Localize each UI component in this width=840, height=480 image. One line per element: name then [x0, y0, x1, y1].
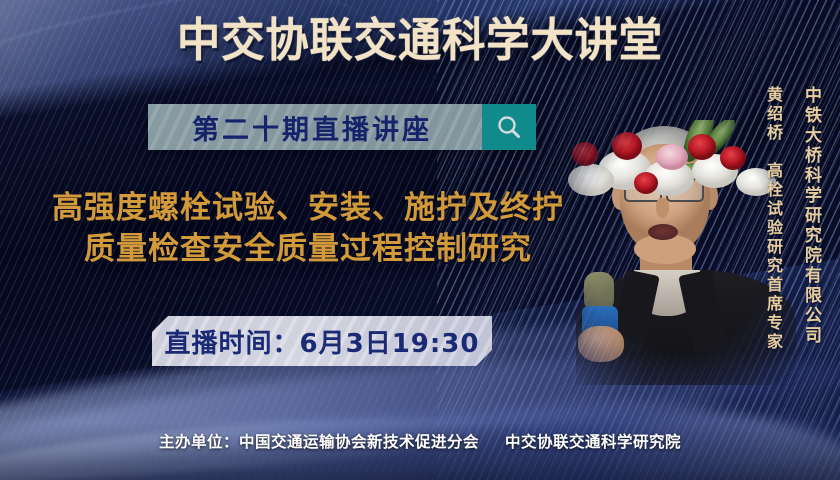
lecture-subtitle: 高强度螺栓试验、安装、施拧及终拧 质量检查安全质量过程控制研究: [10, 188, 606, 270]
search-icon: [495, 113, 523, 141]
episode-search-bar[interactable]: 第二十期直播讲座: [148, 104, 536, 150]
live-time-badge: 直播时间：6月3日19:30: [152, 316, 492, 366]
speaker-hand: [578, 326, 624, 362]
live-time-label: 直播时间：6月3日19:30: [165, 323, 480, 360]
organizer-footer: 主办单位：中国交通运输协会新技术促进分会中交协联交通科学研究院: [0, 430, 840, 452]
search-button[interactable]: [482, 104, 536, 150]
subtitle-line-1: 高强度螺栓试验、安装、施拧及终拧: [10, 188, 606, 229]
speaker-credit: 黄绍桥 高栓试验研究首席专家 中铁大桥科学研究院有限公司: [761, 86, 824, 352]
page-title: 中交协联交通科学大讲堂: [25, 17, 815, 63]
speaker-organization: 中铁大桥科学研究院有限公司: [799, 86, 824, 352]
speaker-mouth: [648, 224, 678, 240]
episode-label: 第二十期直播讲座: [148, 104, 482, 150]
organizer-prefix: 主办单位：中国交通运输协会新技术促进分会: [159, 433, 479, 451]
subtitle-line-2: 质量检查安全质量过程控制研究: [10, 229, 606, 270]
speaker-nose: [656, 198, 669, 218]
organizer-suffix: 中交协联交通科学研究院: [505, 433, 681, 451]
speaker-name-role: 黄绍桥 高栓试验研究首席专家: [761, 86, 785, 352]
live-stream-poster: 中交协联交通科学大讲堂 第二十期直播讲座 高强度螺栓试验、安装、施拧及终拧 质量…: [0, 0, 840, 480]
